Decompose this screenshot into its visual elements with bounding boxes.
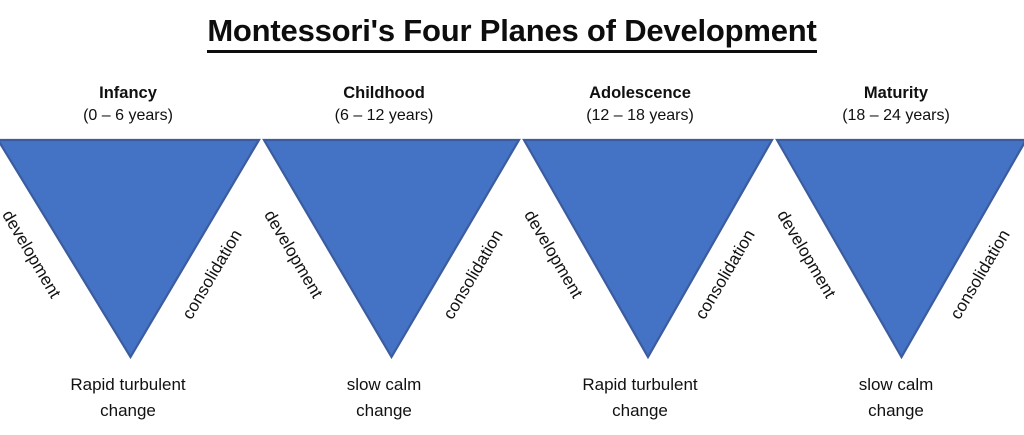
- plane-caption-childhood: slow calm change: [256, 372, 512, 425]
- plane-name: Maturity: [768, 82, 1024, 105]
- plane-caption-infancy: Rapid turbulent change: [0, 372, 256, 425]
- plane-age-range: (6 – 12 years): [256, 105, 512, 128]
- plane-age-range: (18 – 24 years): [768, 105, 1024, 128]
- caption-line-2: change: [768, 398, 1024, 424]
- plane-headers-row: Infancy (0 – 6 years) Childhood (6 – 12 …: [0, 82, 1024, 128]
- caption-line-2: change: [0, 398, 256, 424]
- plane-captions-row: Rapid turbulent change slow calm change …: [0, 372, 1024, 425]
- caption-line-1: Rapid turbulent: [0, 372, 256, 398]
- caption-line-1: slow calm: [768, 372, 1024, 398]
- diagram-page: Montessori's Four Planes of Development …: [0, 0, 1024, 435]
- caption-line-2: change: [512, 398, 768, 424]
- plane-name: Adolescence: [512, 82, 768, 105]
- plane-header-adolescence: Adolescence (12 – 18 years): [512, 82, 768, 128]
- plane-age-range: (12 – 18 years): [512, 105, 768, 128]
- caption-line-1: slow calm: [256, 372, 512, 398]
- caption-line-1: Rapid turbulent: [512, 372, 768, 398]
- page-title: Montessori's Four Planes of Development: [207, 14, 816, 53]
- caption-line-2: change: [256, 398, 512, 424]
- plane-name: Childhood: [256, 82, 512, 105]
- plane-header-infancy: Infancy (0 – 6 years): [0, 82, 256, 128]
- plane-name: Infancy: [0, 82, 256, 105]
- plane-caption-maturity: slow calm change: [768, 372, 1024, 425]
- page-title-container: Montessori's Four Planes of Development: [0, 14, 1024, 53]
- plane-caption-adolescence: Rapid turbulent change: [512, 372, 768, 425]
- plane-age-range: (0 – 6 years): [0, 105, 256, 128]
- triangles-band: development consolidation development co…: [0, 138, 1024, 363]
- plane-header-maturity: Maturity (18 – 24 years): [768, 82, 1024, 128]
- plane-header-childhood: Childhood (6 – 12 years): [256, 82, 512, 128]
- triangles-svg: [0, 138, 1024, 363]
